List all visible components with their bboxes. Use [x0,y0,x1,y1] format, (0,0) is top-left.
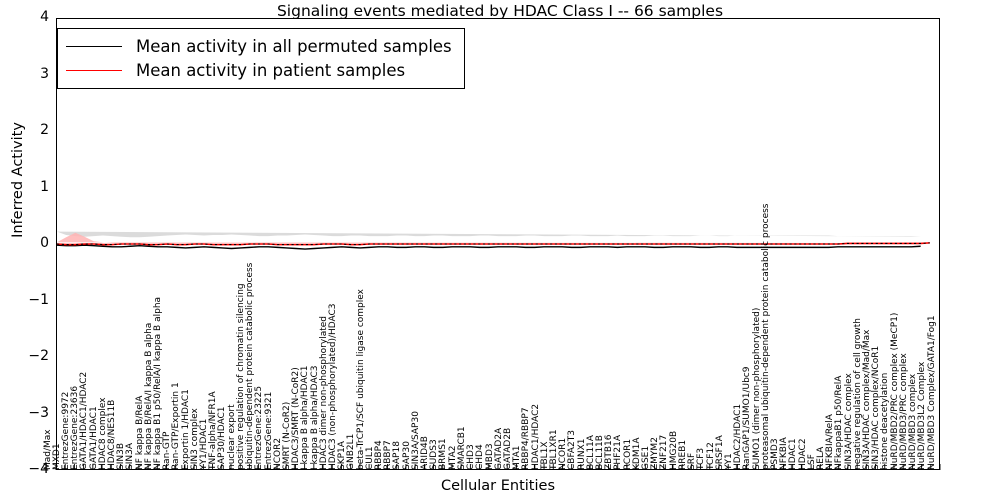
x-axis-tick-marks [56,464,940,472]
x-tick-label: NuRD/MBD3L2 Complex [918,362,927,470]
y-tick-label: 4 [9,10,49,24]
x-tick-label: RanGAP1/SUMO1/Ubc9 [743,367,752,470]
x-tick-label: RBBP4/RBBP7 [522,407,531,470]
y-tick-label: 2 [9,123,49,137]
x-tick-label: I kappa B alpha/HDAC1 [301,366,310,470]
legend-label-patient: Mean activity in patient samples [136,61,405,80]
legend-entry-permuted: Mean activity in all permuted samples [66,34,452,58]
x-tick-label: NuRD/MBD3 Complex/GATA1/Fog1 [928,315,937,470]
y-tick-label: 3 [9,67,49,81]
legend: Mean activity in all permuted samples Me… [57,28,465,89]
x-tick-label: beta-TrCP1/SCF ubiquitin ligase complex [357,289,366,470]
y-axis-tick-labels: 43210−1−2−3−4 [0,18,49,470]
legend-label-permuted: Mean activity in all permuted samples [136,37,452,56]
y-tick-label: −2 [9,349,49,363]
y-tick-label: 0 [9,236,49,250]
legend-entry-patient: Mean activity in patient samples [66,58,452,82]
x-axis-label: Cellular Entities [56,478,940,494]
y-tick-label: −1 [9,293,49,307]
legend-line-permuted [66,46,122,47]
legend-line-patient [66,70,122,71]
y-tick-label: 1 [9,180,49,194]
x-tick-label: GATA1/HDAC1/HDAC2 [80,372,89,470]
x-tick-label: proteasomal ubiquitin-dependent protein … [762,204,771,470]
figure: Signaling events mediated by HDAC Class … [0,0,1000,500]
x-tick-label: EntrezGene:23225 [255,386,264,470]
y-tick-label: −3 [9,406,49,420]
